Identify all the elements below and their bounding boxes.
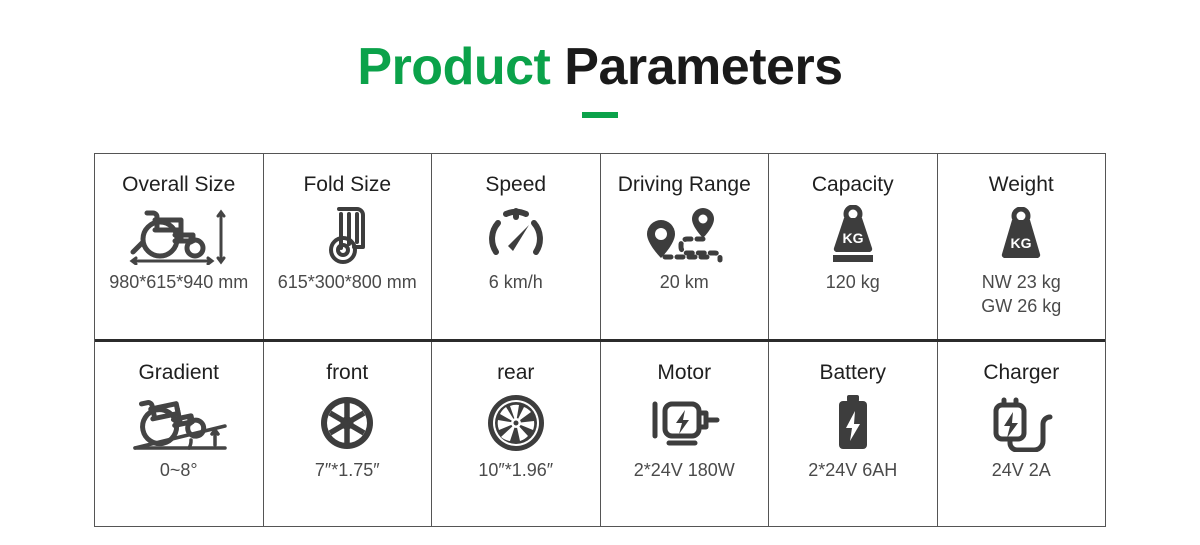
wheelchair-dimensions-icon bbox=[125, 204, 233, 266]
svg-text:KG: KG bbox=[1011, 235, 1032, 251]
spec-label: Battery bbox=[819, 360, 886, 386]
spec-value-line1: 2*24V 6AH bbox=[808, 458, 897, 482]
spec-cell-overall-size: Overall Size bbox=[95, 154, 264, 339]
spec-cell-front-wheel: front bbox=[264, 342, 433, 527]
kg-weight-icon: KG bbox=[993, 204, 1049, 266]
spec-value: 615*300*800 mm bbox=[278, 270, 417, 294]
spec-value-line1: 6 km/h bbox=[489, 270, 543, 294]
folded-wheelchair-icon bbox=[317, 204, 377, 266]
spec-label: front bbox=[326, 360, 368, 386]
spec-cell-capacity: Capacity KG 120 kg bbox=[769, 154, 938, 339]
spec-label: Motor bbox=[657, 360, 711, 386]
rear-wheel-icon bbox=[486, 392, 546, 454]
spec-value: 0~8° bbox=[160, 458, 198, 482]
electric-motor-icon bbox=[647, 392, 721, 454]
page-title: Product Parameters bbox=[0, 36, 1200, 98]
spec-value: NW 23 kg GW 26 kg bbox=[981, 270, 1061, 318]
spec-value: 2*24V 6AH bbox=[808, 458, 897, 482]
weight-on-platform-icon: KG bbox=[822, 204, 884, 266]
spec-table-row: Overall Size bbox=[95, 154, 1105, 342]
spec-value: 6 km/h bbox=[489, 270, 543, 294]
spec-value-line2: GW 26 kg bbox=[981, 294, 1061, 318]
spec-value: 980*615*940 mm bbox=[109, 270, 248, 294]
spec-value-line1: 24V 2A bbox=[992, 458, 1051, 482]
spec-value-line1: 2*24V 180W bbox=[634, 458, 735, 482]
spec-value: 10″*1.96″ bbox=[478, 458, 553, 482]
spec-value-line1: 7″*1.75″ bbox=[315, 458, 380, 482]
spec-label: Gradient bbox=[138, 360, 219, 386]
spec-cell-fold-size: Fold Size 615*300*800 mm bbox=[264, 154, 433, 339]
route-map-pins-icon bbox=[641, 204, 727, 266]
product-parameters-page: Product Parameters Overall Size bbox=[0, 0, 1200, 545]
spec-label: Weight bbox=[989, 172, 1054, 198]
spec-label: Speed bbox=[485, 172, 546, 198]
spec-cell-weight: Weight KG NW 23 kg GW 26 kg bbox=[938, 154, 1106, 339]
spec-table: Overall Size bbox=[94, 153, 1106, 527]
spec-label: Charger bbox=[983, 360, 1059, 386]
spec-value-line1: NW 23 kg bbox=[981, 270, 1061, 294]
spec-cell-battery: Battery 2*24V 6AH bbox=[769, 342, 938, 527]
spec-value-line1: 10″*1.96″ bbox=[478, 458, 553, 482]
spec-value-line1: 20 km bbox=[660, 270, 709, 294]
charger-plug-icon bbox=[988, 392, 1054, 454]
spec-label: Capacity bbox=[812, 172, 894, 198]
speedometer-icon bbox=[484, 204, 548, 266]
svg-text:KG: KG bbox=[842, 230, 863, 246]
wheelchair-incline-icon bbox=[127, 392, 231, 454]
spec-cell-speed: Speed 6 km/h bbox=[432, 154, 601, 339]
battery-icon bbox=[833, 392, 873, 454]
spec-value-line1: 615*300*800 mm bbox=[278, 270, 417, 294]
spec-cell-charger: Charger 24V 2A bbox=[938, 342, 1106, 527]
front-wheel-icon bbox=[318, 392, 376, 454]
spec-label: Overall Size bbox=[122, 172, 235, 198]
spec-cell-driving-range: Driving Range 20 km bbox=[601, 154, 770, 339]
spec-value-line1: 980*615*940 mm bbox=[109, 270, 248, 294]
spec-value: 2*24V 180W bbox=[634, 458, 735, 482]
spec-value: 120 kg bbox=[826, 270, 880, 294]
spec-label: Driving Range bbox=[618, 172, 751, 198]
spec-cell-rear-wheel: rear bbox=[432, 342, 601, 527]
spec-value: 7″*1.75″ bbox=[315, 458, 380, 482]
page-header: Product Parameters bbox=[0, 36, 1200, 118]
title-underline-accent bbox=[582, 112, 618, 118]
spec-value: 20 km bbox=[660, 270, 709, 294]
spec-table-row: Gradient bbox=[95, 342, 1105, 527]
spec-label: rear bbox=[497, 360, 534, 386]
spec-cell-motor: Motor 2*24V 180W bbox=[601, 342, 770, 527]
spec-value-line1: 0~8° bbox=[160, 458, 198, 482]
spec-label: Fold Size bbox=[303, 172, 391, 198]
spec-value-line1: 120 kg bbox=[826, 270, 880, 294]
page-title-accent: Product bbox=[357, 38, 550, 96]
spec-cell-gradient: Gradient bbox=[95, 342, 264, 527]
spec-value: 24V 2A bbox=[992, 458, 1051, 482]
page-title-rest: Parameters bbox=[564, 38, 842, 96]
